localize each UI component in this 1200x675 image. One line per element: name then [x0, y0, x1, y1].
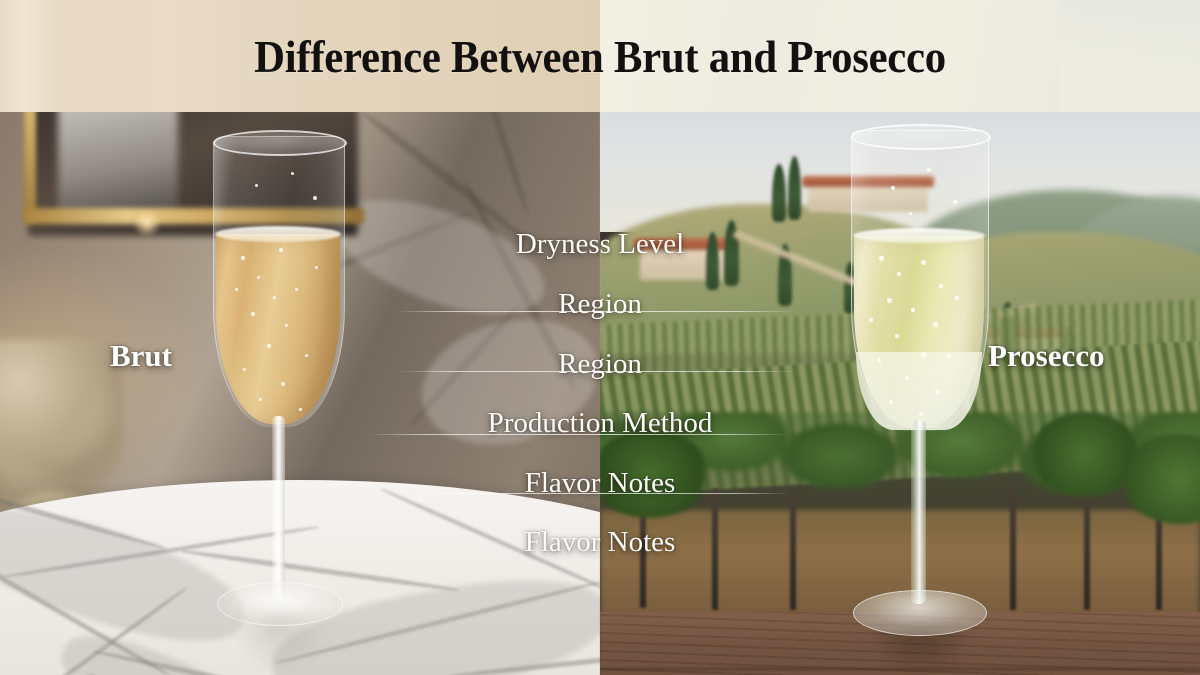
page-title: Difference Between Brut and Prosecco	[42, 0, 1158, 112]
scene-split-seam	[599, 112, 601, 675]
glass-stem	[272, 416, 285, 596]
attribute-row[interactable]: Flavor Notes	[300, 528, 900, 557]
glass-rim	[213, 130, 347, 156]
glass-foot	[853, 590, 987, 636]
bokeh-light	[134, 210, 160, 236]
prosecco-champagne-flute	[835, 112, 1015, 674]
prosecco-side-label: Prosecco	[988, 338, 1104, 374]
attribute-label: Flavor Notes	[300, 469, 900, 498]
glass-stem	[911, 420, 926, 604]
attribute-label: Dryness Level	[300, 230, 900, 259]
infographic-canvas: Difference Between Brut and Prosecco	[0, 0, 1200, 675]
brut-champagne-flute	[195, 116, 365, 675]
prosecco-scene	[600, 112, 1200, 675]
attribute-row[interactable]: Production Method	[300, 409, 900, 438]
attribute-label: Flavor Notes	[300, 528, 900, 557]
floral-ornament	[0, 340, 122, 510]
attribute-row[interactable]: Flavor Notes	[300, 469, 900, 498]
attribute-label: Region	[300, 350, 900, 379]
brut-scene	[0, 112, 600, 675]
mirror-reflection	[58, 112, 178, 222]
attribute-label: Production Method	[300, 409, 900, 438]
glass-foot	[217, 582, 343, 626]
vine-post	[1084, 488, 1090, 610]
attribute-label: Region	[300, 290, 900, 319]
attribute-row[interactable]: Dryness Level	[300, 230, 900, 259]
gold-frame-edge	[24, 112, 36, 222]
glass-rim	[851, 124, 991, 150]
attribute-row[interactable]: Region	[300, 290, 900, 319]
attribute-row[interactable]: Region	[300, 350, 900, 379]
brut-side-label: Brut	[110, 338, 172, 374]
